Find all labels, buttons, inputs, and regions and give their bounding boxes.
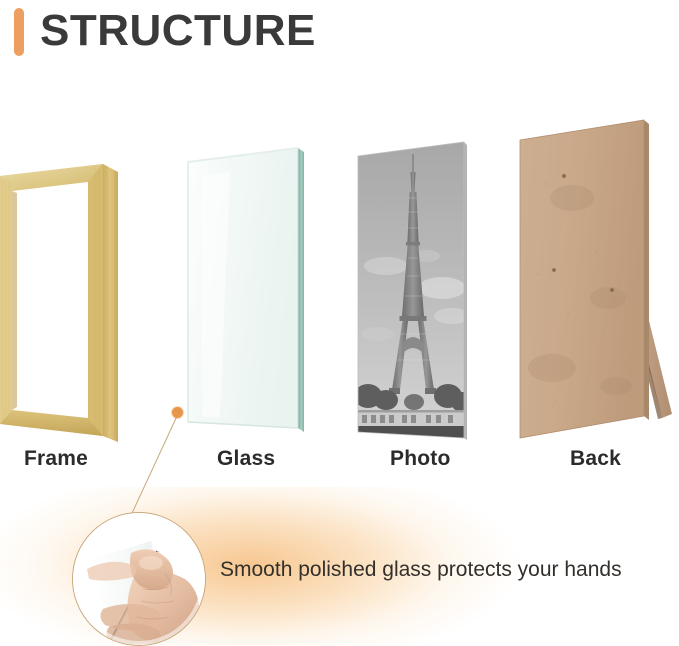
part-back-image xyxy=(512,118,677,443)
callout-anchor-dot xyxy=(172,407,183,418)
page-header: STRUCTURE xyxy=(0,0,679,70)
label-photo: Photo xyxy=(390,447,450,471)
callout-text: Smooth polished glass protects your hand… xyxy=(220,556,640,584)
label-back: Back xyxy=(570,447,621,471)
page-title: STRUCTURE xyxy=(40,6,316,56)
callout-zoom-circle xyxy=(72,512,206,646)
accent-bar xyxy=(14,8,24,56)
part-photo-image xyxy=(356,138,471,446)
